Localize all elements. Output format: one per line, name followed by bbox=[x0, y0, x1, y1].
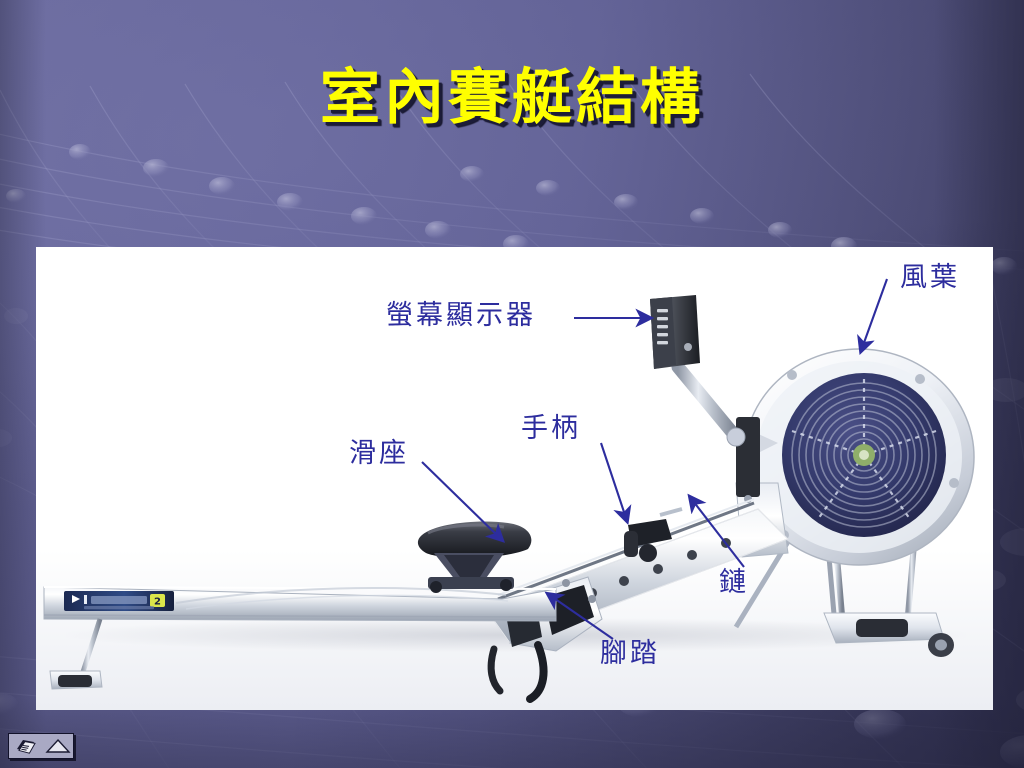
slideshow-mini-toolbar[interactable] bbox=[8, 733, 74, 759]
callout-label-handle: 手柄 bbox=[521, 413, 581, 445]
callout-label-monitor: 螢幕顯示器 bbox=[386, 300, 536, 332]
callout-label-chain: 鏈 bbox=[719, 567, 749, 599]
triangle-shape-icon-glyph bbox=[45, 738, 71, 754]
front-stabilizer bbox=[50, 619, 102, 689]
slides-stack-icon[interactable] bbox=[11, 735, 41, 757]
svg-text:2: 2 bbox=[154, 597, 161, 608]
sliding-seat bbox=[418, 522, 531, 594]
page-title: 室內賽艇結構 bbox=[0, 62, 1024, 134]
triangle-shape-icon[interactable] bbox=[43, 735, 73, 757]
slides-stack-icon-glyph bbox=[15, 737, 37, 755]
brand-logo: 2 bbox=[64, 591, 174, 611]
performance-monitor bbox=[650, 295, 700, 369]
callout-label-seat: 滑座 bbox=[349, 438, 409, 470]
callout-label-footrest: 腳踏 bbox=[600, 638, 660, 670]
callout-label-fan: 風葉 bbox=[900, 262, 960, 294]
presentation-slide: 室內賽艇結構 bbox=[0, 0, 1024, 768]
